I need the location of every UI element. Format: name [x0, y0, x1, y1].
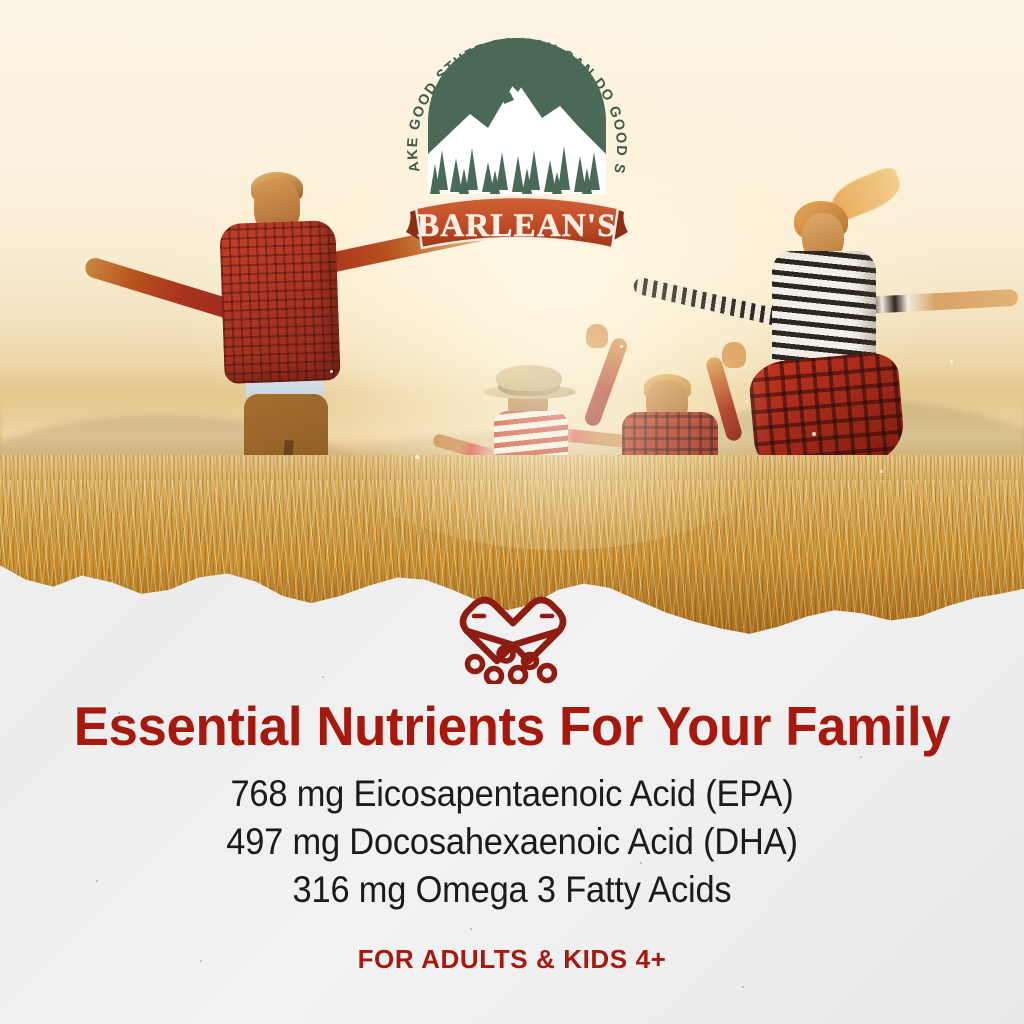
boy-left-hand: [586, 324, 608, 348]
girl-straw-hat: [496, 365, 562, 391]
barleans-logo: WE MAKE GOOD STUFF SO YOU CAN DO GOOD ST…: [392, 22, 642, 266]
nutrient-item: 316 mg Omega 3 Fatty Acids: [36, 866, 988, 914]
logo-brand-name: BARLEAN'S: [417, 208, 617, 244]
age-footnote: FOR ADULTS & KIDS 4+: [0, 944, 1024, 975]
mother-right-arm: [860, 289, 1019, 314]
headline: Essential Nutrients For Your Family: [20, 698, 1003, 756]
boy-left-arm: [583, 336, 630, 428]
father-plaid-shirt: [219, 220, 341, 384]
nutrient-item: 497 mg Docosahexaenoic Acid (DHA): [36, 818, 988, 866]
nutrient-list: 768 mg Eicosapentaenoic Acid (EPA) 497 m…: [0, 770, 1024, 914]
capsules-and-droplets-icon: [455, 592, 571, 684]
mother-left-arm: [632, 276, 784, 327]
logo-ribbon-banner: BARLEAN'S: [406, 197, 628, 248]
boy-right-hand: [722, 342, 746, 368]
product-graphic-canvas: WE MAKE GOOD STUFF SO YOU CAN DO GOOD ST…: [0, 0, 1024, 1024]
nutrient-item: 768 mg Eicosapentaenoic Acid (EPA): [36, 770, 988, 818]
